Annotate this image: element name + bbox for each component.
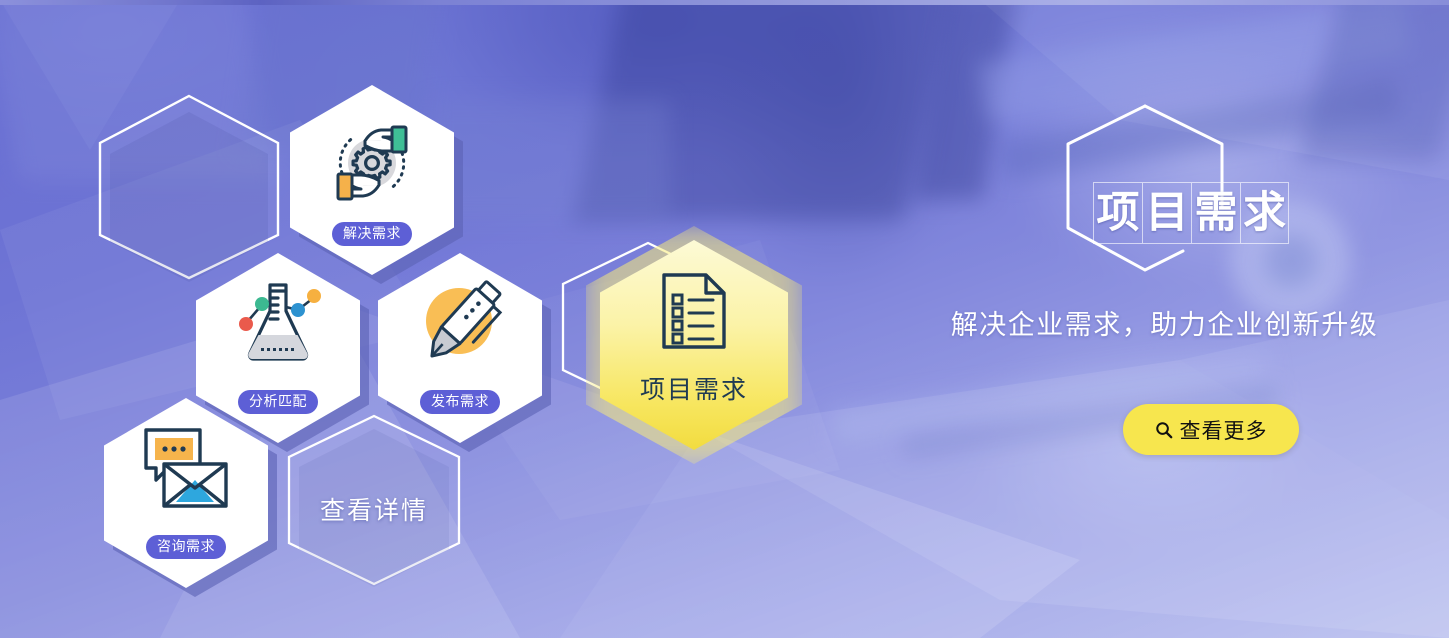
title-char: 求 — [1243, 192, 1286, 235]
title-cell: 项 — [1093, 182, 1142, 244]
title-cell: 求 — [1240, 182, 1289, 244]
hexagon-label-solve: 解决需求 — [332, 222, 412, 247]
hexagon-label-consult: 咨询需求 — [146, 535, 226, 560]
pen-icon — [409, 277, 511, 371]
banner-subtitle: 解决企业需求，助力企业创新升级 — [880, 303, 1449, 342]
checklist-document-icon — [660, 272, 728, 350]
view-more-button[interactable]: 查看更多 — [1123, 404, 1299, 455]
title-char: 项 — [1097, 192, 1140, 235]
title-cell: 目 — [1142, 182, 1191, 244]
hexagon-view-details[interactable]: 查看详情 — [286, 413, 462, 587]
flask-icon — [226, 277, 330, 373]
hexagon-label-details: 查看详情 — [286, 491, 462, 527]
view-more-label: 查看更多 — [1180, 415, 1268, 445]
hexagon-label-publish: 发布需求 — [420, 390, 500, 415]
hexagon-cluster: 解决需求 — [0, 0, 880, 638]
banner-stage: 解决需求 — [0, 0, 1449, 638]
banner-content: 项 目 需 求 解决企业需求，助力企业创新升级 查看更多 — [880, 0, 1449, 638]
page-title: 项 目 需 求 — [1093, 182, 1289, 244]
title-cell: 需 — [1191, 182, 1240, 244]
hexagon-consult-demand[interactable]: 咨询需求 — [104, 398, 268, 588]
hands-gear-icon — [322, 117, 422, 209]
hexagon-label-featured: 项目需求 — [600, 370, 788, 406]
envelope-chat-icon — [136, 424, 236, 518]
search-icon — [1155, 421, 1173, 439]
hexagon-solve-demand[interactable]: 解决需求 — [290, 85, 454, 275]
title-char: 目 — [1146, 192, 1189, 235]
hexagon-featured-project-demand[interactable]: 项目需求 — [600, 240, 788, 450]
title-char: 需 — [1195, 192, 1238, 235]
